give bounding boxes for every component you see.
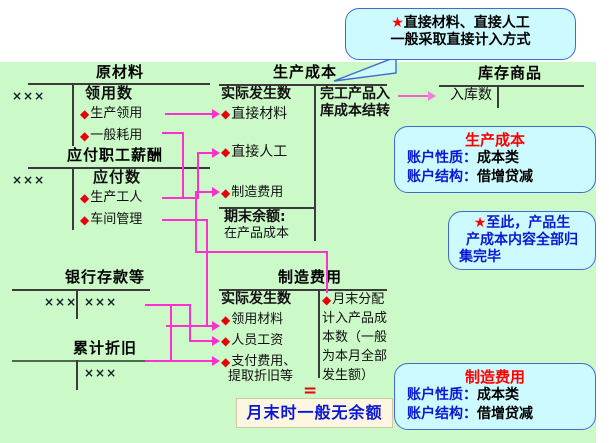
t-divider-manufacturing-overhead <box>318 289 320 378</box>
account-title-raw-material: 原材料 <box>30 64 210 80</box>
connector-general-use-v <box>182 132 184 198</box>
diamond-icon: ◆ <box>80 108 89 120</box>
connector-prod-worker-h <box>162 197 184 199</box>
arrowhead-direct-material <box>212 109 220 119</box>
raw-material-credit-item-1: ◆一般耗用 <box>80 128 142 143</box>
connector-depreciation-v <box>170 304 172 360</box>
manufacturing-overhead-debit-item-3: 提取折旧等 <box>228 369 293 384</box>
production-cost-debit-item-2: ◆制造费用 <box>221 185 283 200</box>
diamond-icon: ◆ <box>221 187 230 199</box>
production-cost-debit-item-0: ◆直接材料 <box>221 107 287 122</box>
star-icon: ★ <box>391 15 404 31</box>
production-cost-debit-header: 实际发生数 <box>221 87 291 102</box>
manufacturing-overhead-credit-line-0: 计入产品成 <box>322 311 387 326</box>
diamond-icon: ◆ <box>221 146 230 158</box>
manufacturing-overhead-credit-line-1: 本数（一般 <box>322 330 387 345</box>
raw-material-debit-amount: ××× <box>12 89 45 103</box>
connector-overhead-alloc-bottom <box>195 251 328 253</box>
callout-all-collected-line3: 集完毕 <box>449 249 595 266</box>
production-cost-credit-line1: 完工产品入 <box>320 87 390 102</box>
arrowhead-personnel-wage <box>212 336 220 346</box>
diamond-icon: ◆ <box>221 314 230 326</box>
connector-general-use-h <box>162 132 184 134</box>
arrowhead-direct-labor <box>212 148 220 158</box>
manufacturing-overhead-credit-line-3: 发生额） <box>322 368 374 383</box>
connector-raw-to-direct-material <box>165 113 215 115</box>
manufacturing-overhead-credit-item: ◆月末分配 <box>322 292 384 307</box>
diagram-canvas: 原材料 ××× 领用数 ◆生产领用 ◆一般耗用 应付职工薪酬 ××× 应付数 ◆… <box>0 0 609 443</box>
account-title-accumulated-depreciation: 累计折旧 <box>20 340 190 356</box>
bank-deposit-credit-amount: ××× <box>84 295 117 309</box>
arrowhead-material-use <box>212 321 220 331</box>
diamond-icon: ◆ <box>221 108 230 120</box>
t-rule-bank-deposit <box>12 289 150 291</box>
connector-workshop-mgmt-v <box>206 219 208 325</box>
production-cost-credit-line2: 库成本结转 <box>320 104 390 119</box>
payroll-debit-amount: ××× <box>12 173 45 187</box>
card-manufacturing-overhead-row-0: 账户性质：成本类 <box>395 386 595 405</box>
connector-to-material-use <box>166 325 215 327</box>
t-divider-inventory-goods <box>497 85 499 108</box>
note-no-balance: 月末时一般无余额 <box>236 398 393 428</box>
callout-all-collected-line1: ★至此，产品生 <box>449 215 595 232</box>
account-title-bank-deposit: 银行存款等 <box>20 269 190 285</box>
manufacturing-overhead-debit-item-1: ◆人员工资 <box>221 333 283 348</box>
connector-to-paid-expense <box>170 360 215 362</box>
connector-workshop-mgmt-h <box>162 219 208 221</box>
equals-sign: = <box>303 384 317 398</box>
arrowhead-paid-expense <box>212 356 220 366</box>
note-no-balance-text: 月末时一般无余额 <box>246 403 382 422</box>
connector-finished-to-inventory <box>398 95 431 97</box>
diamond-icon: ◆ <box>322 294 331 306</box>
production-cost-balance-value: 在产品成本 <box>224 226 289 241</box>
callout-all-collected: ★至此，产品生 产成本内容全部归 集完毕 <box>448 211 596 270</box>
inventory-goods-debit-label: 入库数 <box>450 88 492 103</box>
connector-bank-v <box>189 304 191 340</box>
callout-all-collected-line2: 产成本内容全部归 <box>449 232 595 249</box>
bank-deposit-debit-amount: ××× <box>44 295 77 309</box>
card-production-cost-row-1: 账户结构：借增贷减 <box>395 168 595 187</box>
callout-direct-method: ★直接材料、直接人工 一般采取直接计入方式 <box>345 8 576 60</box>
t-divider-payroll <box>72 167 74 230</box>
manufacturing-overhead-debit-item-0: ◆领用材料 <box>221 312 283 327</box>
payroll-credit-item-0: ◆生产工人 <box>80 190 142 205</box>
diamond-icon: ◆ <box>80 192 89 204</box>
account-title-manufacturing-overhead: 制造费用 <box>245 269 375 285</box>
arrowhead-inventory-goods <box>428 91 436 101</box>
manufacturing-overhead-debit-header: 实际发生数 <box>221 292 291 307</box>
accumulated-depreciation-credit-amount: ××× <box>84 366 117 380</box>
card-production-cost-title: 生产成本 <box>395 131 595 149</box>
raw-material-credit-header: 领用数 <box>85 86 133 101</box>
production-cost-debit-item-1: ◆直接人工 <box>221 145 287 160</box>
diamond-icon: ◆ <box>221 335 230 347</box>
manufacturing-overhead-debit-item-2: ◆支付费用、 <box>221 354 296 369</box>
card-production-cost: 生产成本 账户性质：成本类 账户结构：借增贷减 <box>394 126 596 193</box>
payroll-credit-item-1: ◆车间管理 <box>80 212 142 227</box>
connector-bank-h <box>145 304 191 306</box>
diamond-icon: ◆ <box>80 130 89 142</box>
card-manufacturing-overhead-title: 制造费用 <box>395 368 595 386</box>
t-divider-raw-material <box>72 83 74 146</box>
card-manufacturing-overhead: 制造费用 账户性质：成本类 账户结构：借增贷减 <box>394 363 596 430</box>
account-title-inventory-goods: 库存商品 <box>450 65 570 81</box>
t-divider-production-cost <box>314 84 316 241</box>
connector-overhead-alloc-right-v <box>326 251 328 293</box>
diamond-icon: ◆ <box>80 214 89 226</box>
callout-direct-method-line1: ★直接材料、直接人工 <box>346 15 575 32</box>
t-divider-accumulated-depreciation <box>76 360 78 390</box>
connector-overhead-alloc-v <box>195 191 197 253</box>
arrowhead-overhead-to-production <box>212 187 220 197</box>
card-manufacturing-overhead-row-1: 账户结构：借增贷减 <box>395 405 595 424</box>
card-production-cost-row-0: 账户性质：成本类 <box>395 149 595 168</box>
t-rule-accumulated-depreciation <box>12 360 150 362</box>
star-icon: ★ <box>474 215 487 231</box>
callout-direct-method-line2: 一般采取直接计入方式 <box>346 32 575 49</box>
diamond-icon: ◆ <box>221 356 230 368</box>
payroll-credit-header: 应付数 <box>93 170 141 185</box>
manufacturing-overhead-credit-line-2: 为本月全部 <box>322 349 387 364</box>
production-cost-balance-label: 期末余额: <box>224 210 286 225</box>
raw-material-credit-item-0: ◆生产领用 <box>80 106 142 121</box>
